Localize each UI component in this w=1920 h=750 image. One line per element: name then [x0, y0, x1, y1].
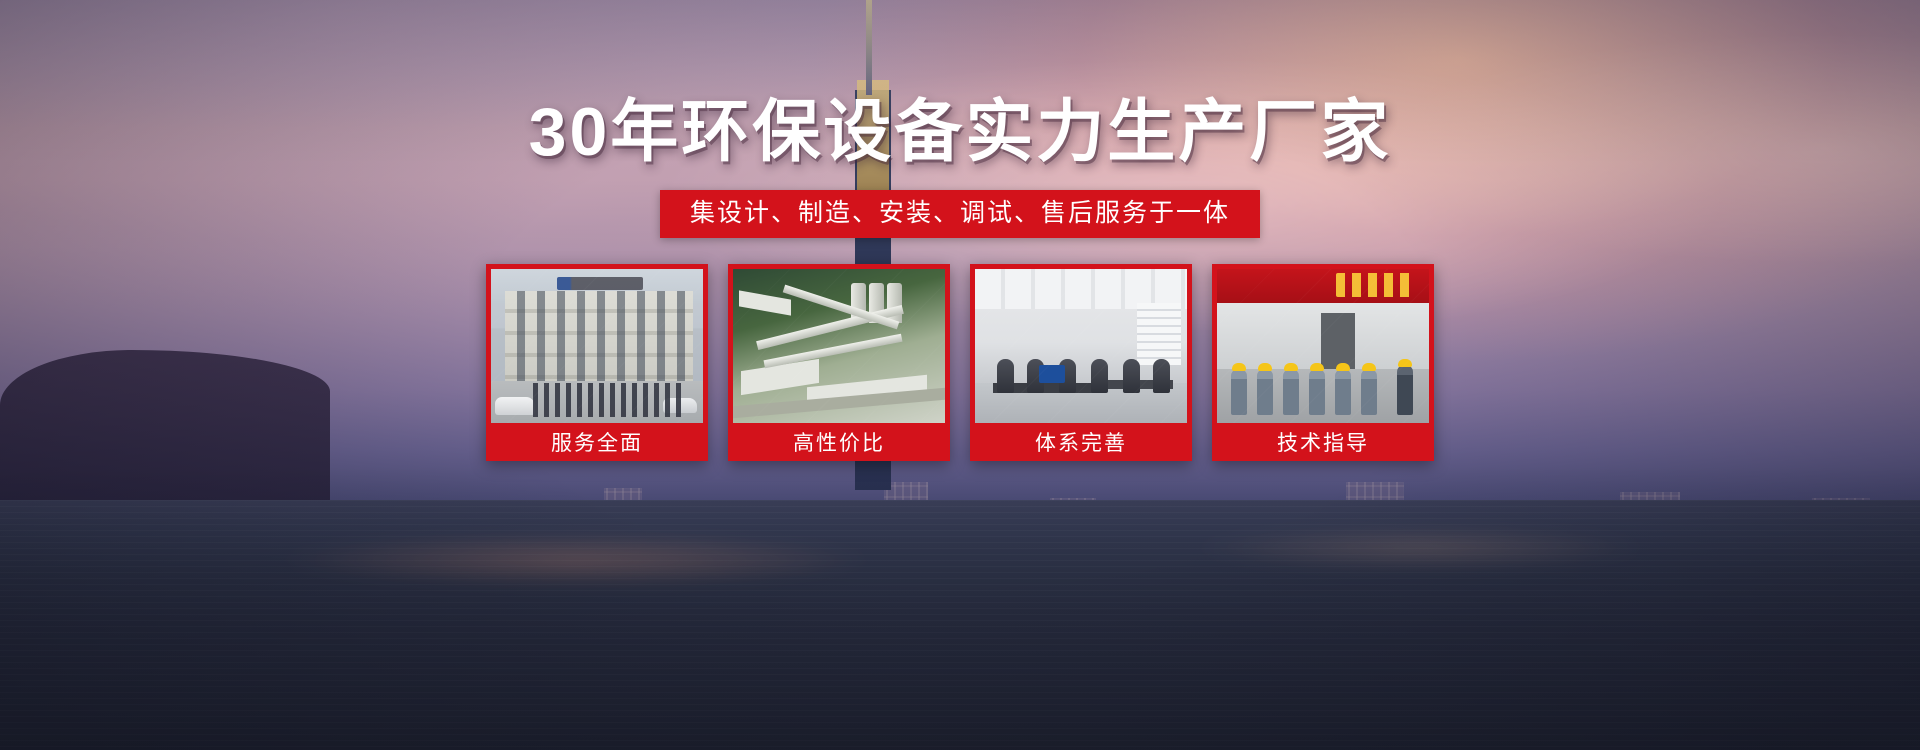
feature-card[interactable]: 高性价比 — [728, 264, 950, 461]
feature-card[interactable]: 技术指导 — [1212, 264, 1434, 461]
card-image-office-meeting — [975, 269, 1187, 423]
feature-card[interactable]: 服务全面 — [486, 264, 708, 461]
card-label: 技术指导 — [1217, 423, 1429, 461]
card-label: 服务全面 — [491, 423, 703, 461]
card-image-office-building — [491, 269, 703, 423]
card-label: 体系完善 — [975, 423, 1187, 461]
subtitle-badge: 集设计、制造、安装、调试、售后服务于一体 — [660, 190, 1260, 238]
card-image-industrial-plant — [733, 269, 945, 423]
card-image-factory-workers — [1217, 269, 1429, 423]
feature-card-list: 服务全面 高性价比 — [486, 264, 1434, 461]
feature-card[interactable]: 体系完善 — [970, 264, 1192, 461]
hero-banner: 30年环保设备实力生产厂家 集设计、制造、安装、调试、售后服务于一体 服务全面 — [0, 0, 1920, 750]
card-label: 高性价比 — [733, 423, 945, 461]
banner-content: 30年环保设备实力生产厂家 集设计、制造、安装、调试、售后服务于一体 服务全面 — [0, 0, 1920, 750]
page-title: 30年环保设备实力生产厂家 — [529, 98, 1392, 166]
